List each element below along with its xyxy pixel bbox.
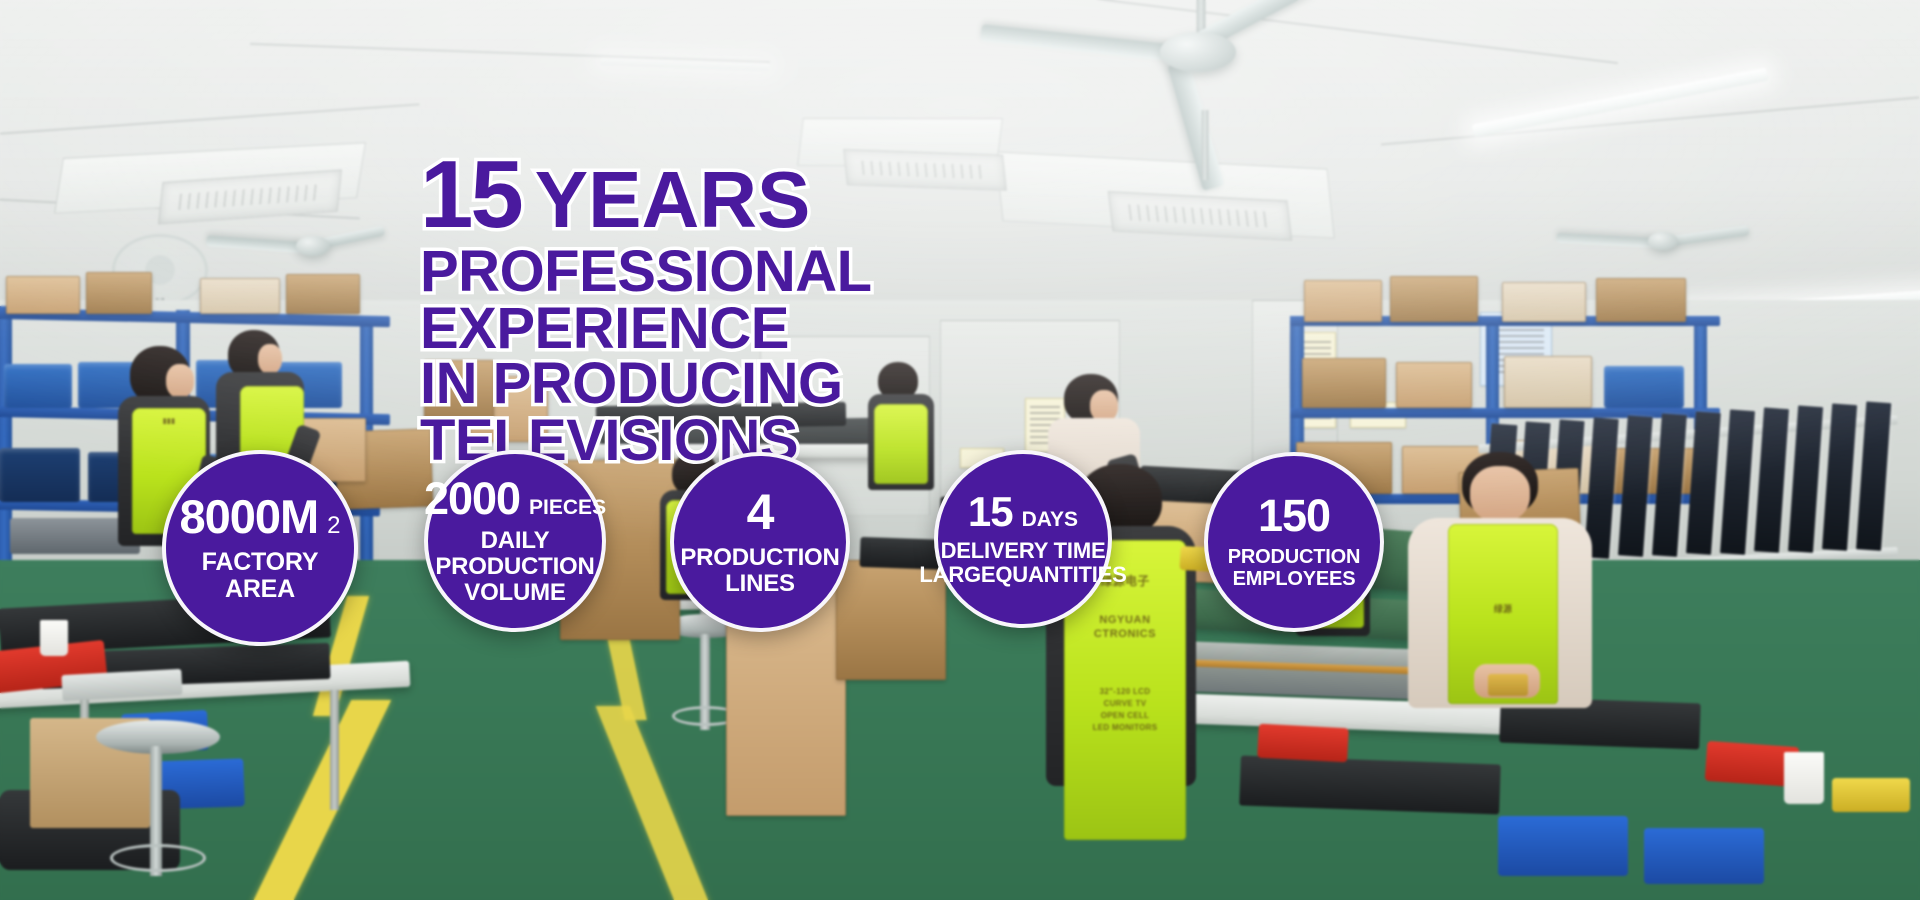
stat-badge-daily-production[interactable]: 2000 PIECES DAILY PRODUCTION VOLUME [424,450,606,632]
stat-label: PRODUCTION EMPLOYEES [1214,547,1374,590]
stat-value: 150 [1258,493,1330,538]
stat-badge-factory-area[interactable]: 8000M2 FACTORY AREA [162,450,358,646]
stat-value-row: 15 DAYS [968,491,1078,533]
stat-value: 8000M [179,493,318,540]
stat-badge-delivery-time[interactable]: 15 DAYS DELIVERY TIME LARGEQUANTITIES [934,450,1112,628]
stat-unit: PIECES [529,497,606,518]
stat-label: DAILY PRODUCTION VOLUME [434,528,596,606]
stat-label: DELIVERY TIME LARGEQUANTITIES [919,539,1126,587]
stat-superscript: 2 [327,514,340,538]
stat-value-row: 2000 PIECES [424,476,606,521]
stat-value-row: 150 [1258,493,1330,538]
stat-label: FACTORY AREA [172,549,348,603]
stat-unit: DAYS [1022,509,1078,530]
stat-value-row: 8000M2 [179,493,340,540]
stat-value: 4 [747,487,774,537]
stat-value: 15 [968,491,1013,533]
stats-badge-row: 8000M2 FACTORY AREA 2000 PIECES DAILY PR… [0,0,1920,900]
stat-label: PRODUCTION LINES [680,545,840,597]
stat-value-row: 4 [747,487,774,537]
banner-stage: ▮▮▮ ▮▮▮ [0,0,1920,900]
stat-badge-production-lines[interactable]: 4 PRODUCTION LINES [670,452,850,632]
stat-badge-production-employees[interactable]: 150 PRODUCTION EMPLOYEES [1204,452,1384,632]
stat-value: 2000 [424,476,520,521]
